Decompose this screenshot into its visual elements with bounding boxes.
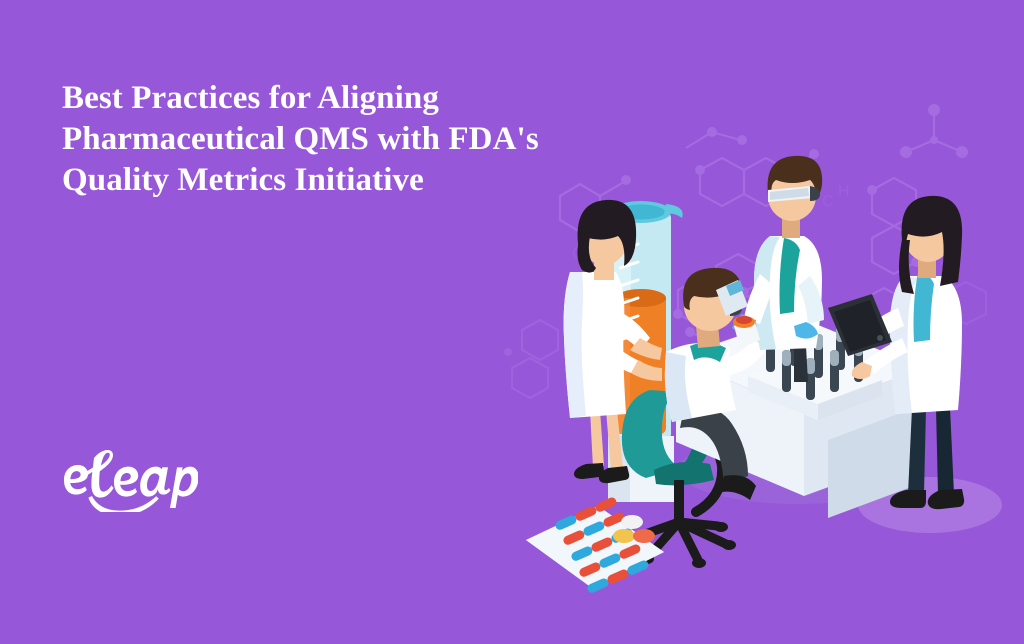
blister-pack — [526, 496, 664, 594]
pharma-lab-illustration — [498, 140, 1024, 620]
eleap-logo[interactable] — [58, 446, 198, 512]
banner-canvas: C C C H C H H Best Practices for Alignin… — [0, 0, 1024, 644]
eleap-logo-mark — [58, 446, 198, 512]
